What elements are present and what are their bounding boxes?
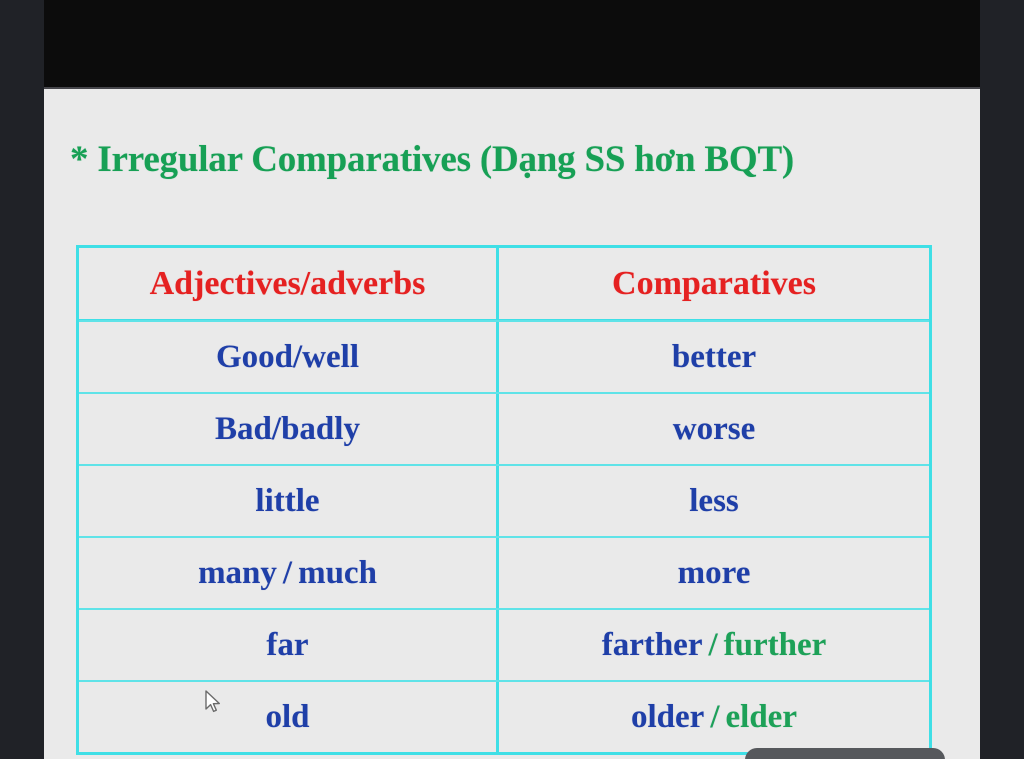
cell-word: better <box>672 339 756 376</box>
video-top-black-bar <box>44 0 980 89</box>
cell-comparative: less <box>499 466 929 536</box>
cell-adjective: many/much <box>79 538 499 608</box>
cell-adjective: old <box>79 682 499 752</box>
cell-word: far <box>266 627 308 664</box>
cell-comparative: better <box>499 322 929 392</box>
cell-adjective: little <box>79 466 499 536</box>
table-row: far farther/further <box>79 608 929 680</box>
letterbox-left <box>0 0 44 759</box>
cell-word: less <box>689 483 739 520</box>
cell-word: old <box>265 699 309 736</box>
cell-word: little <box>255 483 319 520</box>
column-header-adjectives-adverbs: Adjectives/adverbs <box>79 248 499 319</box>
cell-adjective: Good/well <box>79 322 499 392</box>
cell-word: Bad/badly <box>215 411 360 448</box>
cell-word: farther <box>602 627 703 664</box>
cell-word: more <box>678 555 751 592</box>
cell-comparative: more <box>499 538 929 608</box>
cell-word: many <box>198 555 277 592</box>
table-row: Bad/badly worse <box>79 392 929 464</box>
cell-word: further <box>724 627 827 664</box>
cell-word: elder <box>726 699 797 736</box>
cell-adjective: Bad/badly <box>79 394 499 464</box>
screen: * Irregular Comparatives (Dạng SS hơn BQ… <box>0 0 1024 759</box>
video-player-control-bar[interactable] <box>745 748 945 759</box>
slide-title: * Irregular Comparatives (Dạng SS hơn BQ… <box>70 138 794 181</box>
cell-adjective: far <box>79 610 499 680</box>
cell-word: older <box>631 699 704 736</box>
cell-word: much <box>298 555 377 592</box>
cell-comparative: farther/further <box>499 610 929 680</box>
cell-separator: / <box>277 555 298 592</box>
cell-separator: / <box>702 627 723 664</box>
table-header-row: Adjectives/adverbs Comparatives <box>79 248 929 320</box>
cell-separator: / <box>704 699 725 736</box>
cell-comparative: older/elder <box>499 682 929 752</box>
lesson-slide: * Irregular Comparatives (Dạng SS hơn BQ… <box>44 89 980 759</box>
cell-word: worse <box>673 411 755 448</box>
irregular-comparatives-table: Adjectives/adverbs Comparatives Good/wel… <box>76 245 932 755</box>
table-row: little less <box>79 464 929 536</box>
table-row: many/much more <box>79 536 929 608</box>
table-row: Good/well better <box>79 320 929 392</box>
table-row: old older/elder <box>79 680 929 752</box>
letterbox-right <box>980 0 1024 759</box>
cell-word: Good/well <box>216 339 359 376</box>
cell-comparative: worse <box>499 394 929 464</box>
column-header-comparatives: Comparatives <box>499 248 929 319</box>
